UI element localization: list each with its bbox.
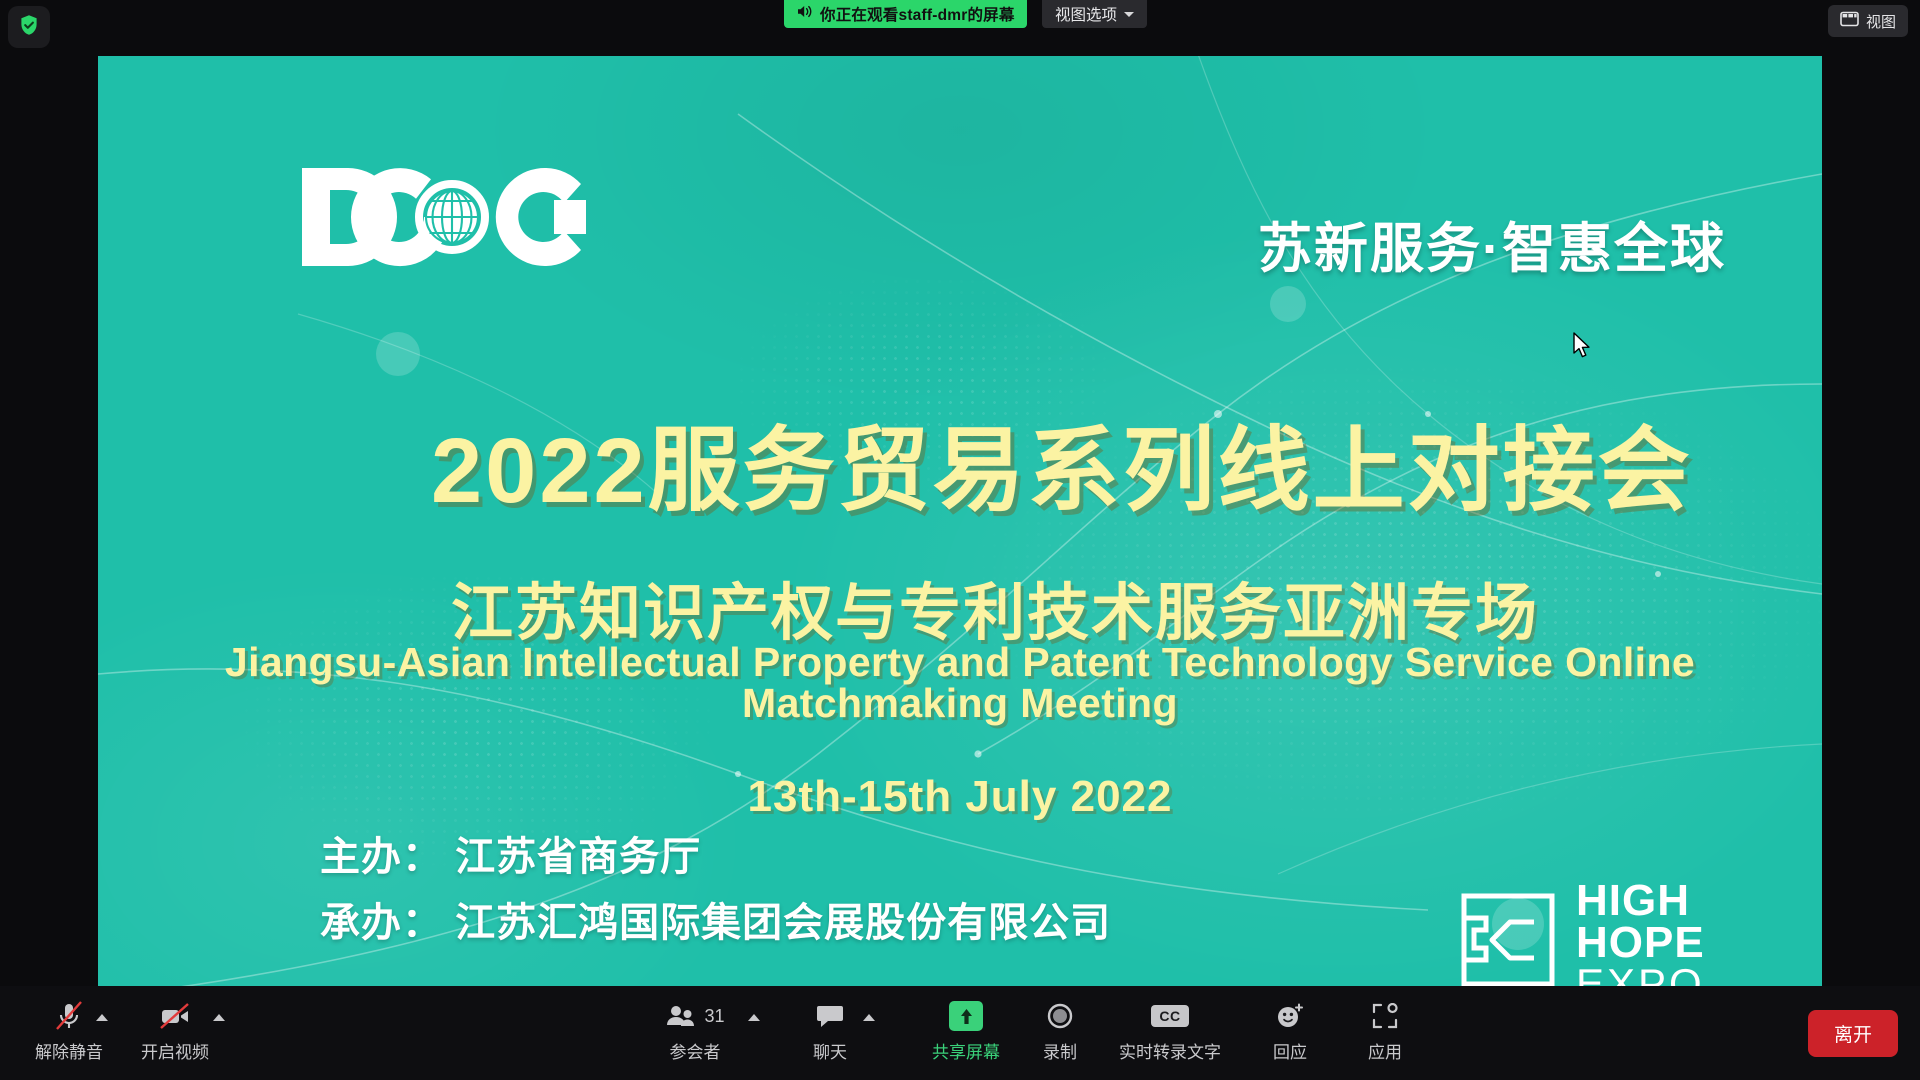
view-layout-button[interactable]: 视图 <box>1828 5 1908 37</box>
share-screen-icon <box>949 996 983 1036</box>
toolbar-label-start-video: 开启视频 <box>141 1038 209 1063</box>
doc-logo <box>296 162 586 277</box>
leave-meeting-button[interactable]: 离开 <box>1808 1010 1898 1057</box>
expo-logo-line1: HIGH HOPE <box>1576 880 1822 964</box>
top-bar: 你正在观看staff-dmr的屏幕 视图选项 视图 <box>0 0 1920 56</box>
toolbar-label-chat: 聊天 <box>813 1038 847 1063</box>
toolbar-label-record: 录制 <box>1043 1038 1077 1063</box>
video-options-caret[interactable] <box>213 1014 225 1021</box>
unmute-audio-options-caret[interactable] <box>96 1014 108 1021</box>
view-options-dropdown[interactable]: 视图选项 <box>1042 0 1147 28</box>
slide-event-date: 13th-15th July 2022 <box>98 772 1822 822</box>
screen-share-notice-text: 你正在观看staff-dmr的屏幕 <box>820 3 1015 25</box>
slide-main-title: 2022服务贸易系列线上对接会 <box>431 396 1693 529</box>
toolbar-item-start-video[interactable]: 开启视频 <box>120 996 230 1072</box>
toolbar-label-reactions: 回应 <box>1273 1038 1307 1063</box>
speaker-icon <box>796 4 813 24</box>
toolbar-item-record[interactable]: 录制 <box>1020 996 1100 1072</box>
view-options-label: 视图选项 <box>1055 3 1117 25</box>
toolbar-item-share-screen[interactable]: 共享屏幕 <box>908 996 1024 1072</box>
view-button-label: 视图 <box>1866 11 1896 32</box>
toolbar-label-share-screen: 共享屏幕 <box>932 1038 1000 1063</box>
record-circle-icon <box>1046 996 1074 1036</box>
apps-bracket-icon <box>1371 996 1399 1036</box>
slide-en-subtitle: Jiangsu-Asian Intellectual Property and … <box>98 642 1822 724</box>
shield-check-icon <box>17 13 41 42</box>
closed-caption-icon: CC <box>1151 996 1188 1036</box>
meeting-toolbar: 解除静音 开启视频 31 参会者 <box>0 986 1920 1080</box>
toolbar-item-apps[interactable]: 应用 <box>1340 996 1430 1072</box>
toolbar-label-live-transcript: 实时转录文字 <box>1119 1038 1221 1063</box>
layout-grid-icon <box>1840 11 1859 31</box>
screen-share-notice: 你正在观看staff-dmr的屏幕 <box>784 0 1027 28</box>
smiley-plus-icon <box>1275 996 1305 1036</box>
toolbar-item-chat[interactable]: 聊天 <box>790 996 870 1072</box>
slide-host-line: 主办： 江苏省商务厅 <box>320 824 701 882</box>
mouse-pointer-icon <box>1572 332 1592 365</box>
shared-screen-slide: 苏新服务·智惠全球 2022服务贸易系列线上对接会 江苏知识产权与专利技术服务亚… <box>98 54 1822 1014</box>
slide-slogan: 苏新服务·智惠全球 <box>1258 204 1726 283</box>
toolbar-label-apps: 应用 <box>1368 1038 1402 1063</box>
participants-options-caret[interactable] <box>748 1014 760 1021</box>
toolbar-label-participants: 参会者 <box>670 1038 721 1063</box>
toolbar-item-participants[interactable]: 31 参会者 <box>645 996 745 1072</box>
slide-organizer-line: 承办： 江苏汇鸿国际集团会展股份有限公司 <box>320 890 1111 948</box>
toolbar-item-live-transcript[interactable]: CC 实时转录文字 <box>1100 996 1240 1072</box>
microphone-muted-icon <box>52 996 86 1036</box>
participants-count: 31 <box>704 1006 724 1027</box>
camera-off-icon <box>157 996 193 1036</box>
chat-bubble-icon <box>815 996 845 1036</box>
high-hope-bracket-icon <box>1460 892 1556 993</box>
toolbar-item-unmute[interactable]: 解除静音 <box>14 996 124 1072</box>
toolbar-item-reactions[interactable]: 回应 <box>1245 996 1335 1072</box>
people-icon: 31 <box>665 996 724 1036</box>
encryption-status-button[interactable] <box>8 6 50 48</box>
toolbar-label-unmute: 解除静音 <box>35 1038 103 1063</box>
chevron-down-icon <box>1124 12 1134 17</box>
chat-options-caret[interactable] <box>863 1014 875 1021</box>
